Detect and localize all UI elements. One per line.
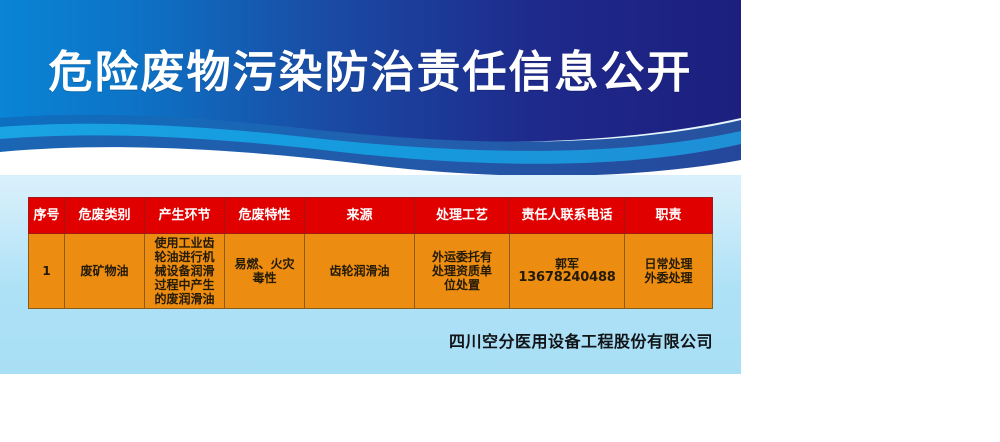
poster-board: 危险废物污染防治责任信息公开 序号 危废类别 产生环节 危废特性 来源 处理工艺…	[0, 0, 741, 374]
treatment-line-2: 处理资质单	[417, 264, 507, 278]
duty-line-1: 日常处理	[627, 257, 710, 271]
column-header-contact: 责任人联系电话	[510, 198, 625, 234]
property-line-1: 易燃、火灾	[227, 257, 302, 271]
cell-treatment-process: 外运委托有 处理资质单 位处置	[415, 234, 510, 309]
property-line-2: 毒性	[227, 271, 302, 285]
contact-phone: 13678240488	[512, 271, 622, 285]
hazardous-waste-table: 序号 危废类别 产生环节 危废特性 来源 处理工艺 责任人联系电话 职责 1 废…	[28, 197, 713, 309]
treatment-line-1: 外运委托有	[417, 250, 507, 264]
table-row: 1 废矿物油 使用工业齿 轮油进行机 械设备润滑 过程中产生 的废润滑油 易燃、…	[29, 234, 713, 309]
treatment-line-3: 位处置	[417, 278, 507, 292]
table-header-row: 序号 危废类别 产生环节 危废特性 来源 处理工艺 责任人联系电话 职责	[29, 198, 713, 234]
column-header-source: 来源	[305, 198, 415, 234]
cell-source: 齿轮润滑油	[305, 234, 415, 309]
stage-line-5: 的废润滑油	[147, 292, 222, 306]
cell-category: 废矿物油	[65, 234, 145, 309]
duty-line-2: 外委处理	[627, 271, 710, 285]
column-header-index: 序号	[29, 198, 65, 234]
column-header-treatment: 处理工艺	[415, 198, 510, 234]
column-header-category: 危废类别	[65, 198, 145, 234]
stage-line-4: 过程中产生	[147, 278, 222, 292]
column-header-property: 危废特性	[225, 198, 305, 234]
stage-line-2: 轮油进行机	[147, 250, 222, 264]
page-title: 危险废物污染防治责任信息公开	[0, 46, 741, 100]
cell-index: 1	[29, 234, 65, 309]
stage-line-1: 使用工业齿	[147, 236, 222, 250]
cell-hazard-property: 易燃、火灾 毒性	[225, 234, 305, 309]
stage-line-3: 械设备润滑	[147, 264, 222, 278]
column-header-duty: 职责	[625, 198, 713, 234]
banner-header: 危险废物污染防治责任信息公开	[0, 0, 741, 175]
cell-duty: 日常处理 外委处理	[625, 234, 713, 309]
cell-generation-stage: 使用工业齿 轮油进行机 械设备润滑 过程中产生 的废润滑油	[145, 234, 225, 309]
company-name: 四川空分医用设备工程股份有限公司	[0, 328, 713, 352]
contact-name: 郭军	[512, 257, 622, 271]
column-header-stage: 产生环节	[145, 198, 225, 234]
cell-contact: 郭军 13678240488	[510, 234, 625, 309]
